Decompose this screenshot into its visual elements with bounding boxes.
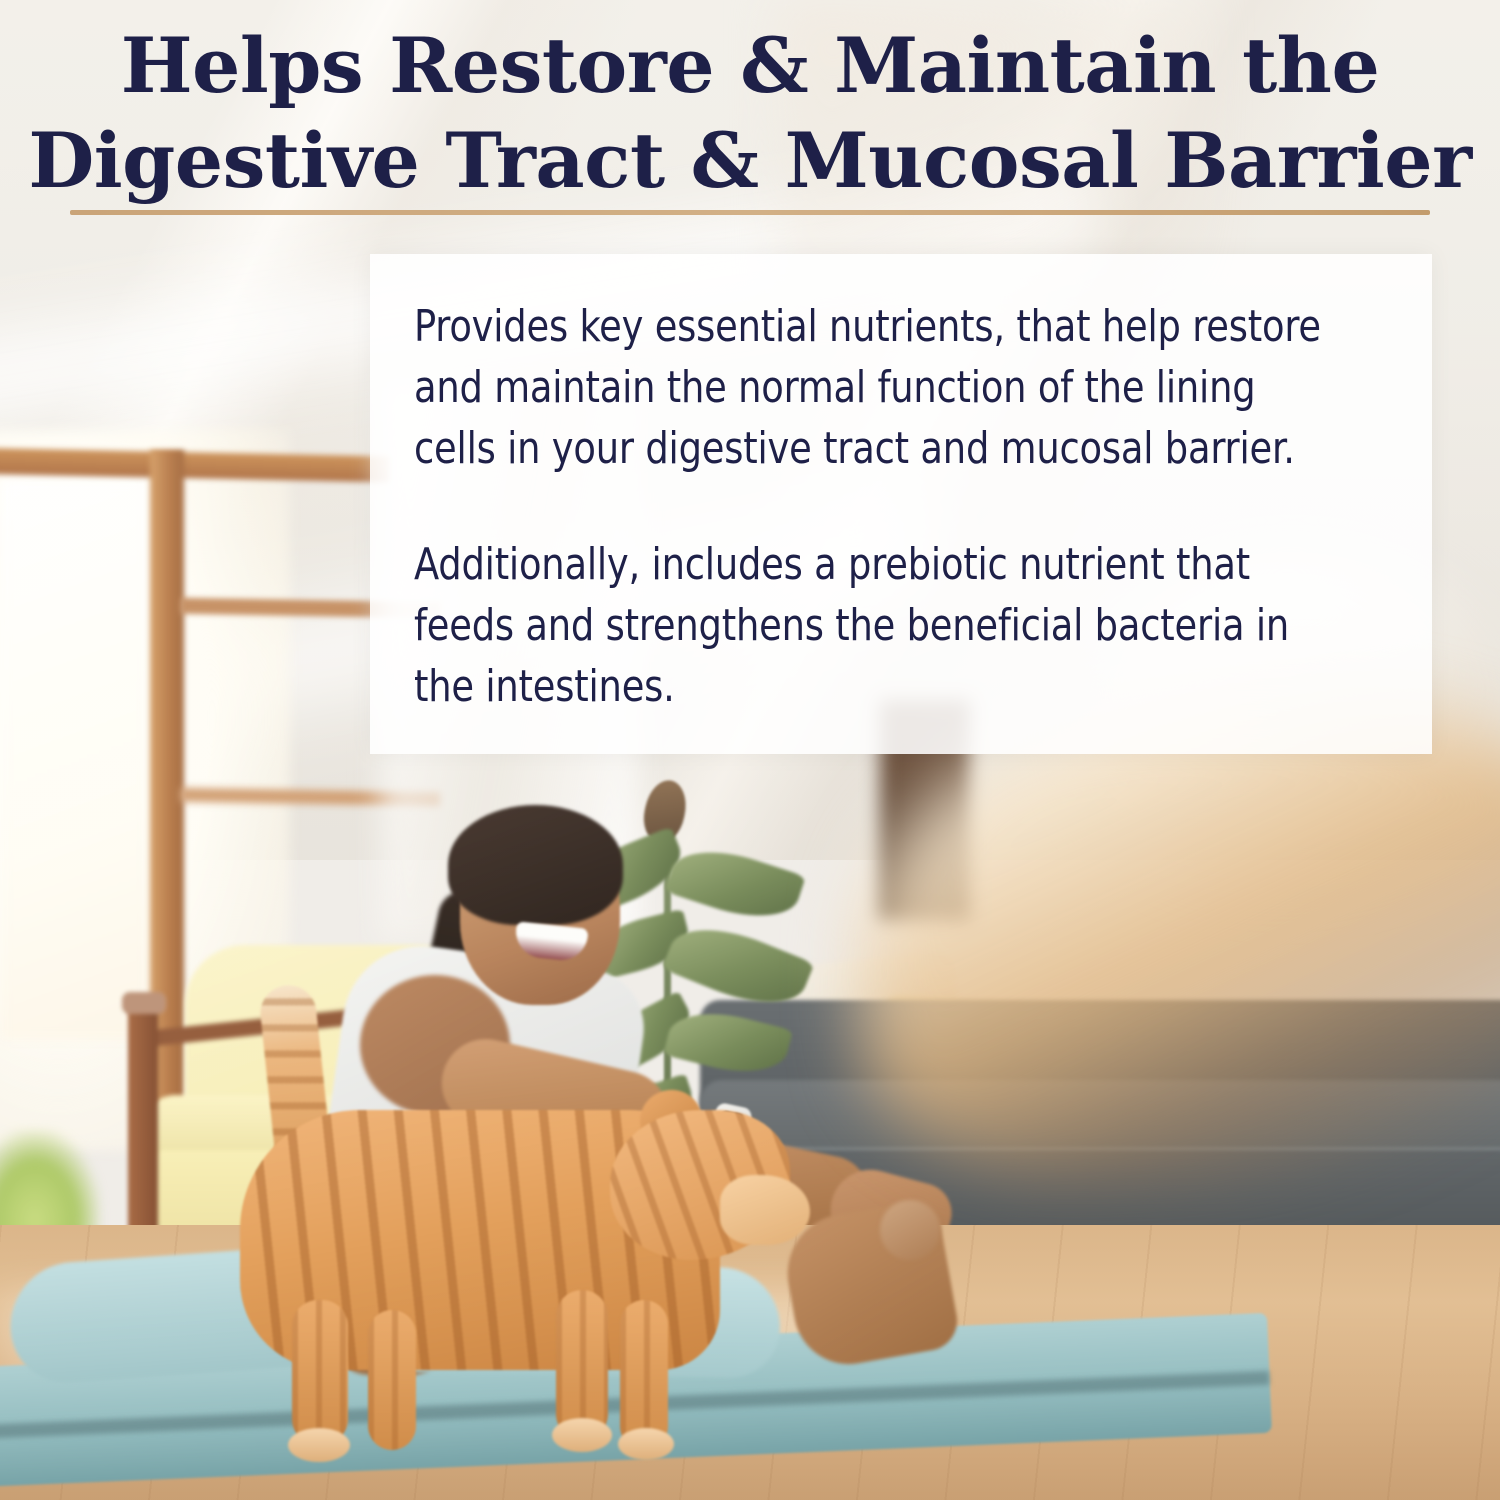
window-pane bbox=[0, 480, 150, 1040]
cat-paw bbox=[288, 1428, 350, 1462]
description-panel-inner: Provides key essential nutrients, that h… bbox=[414, 296, 1394, 717]
description-panel: Provides key essential nutrients, that h… bbox=[370, 254, 1432, 754]
description-paragraph-1: Provides key essential nutrients, that h… bbox=[414, 296, 1325, 479]
description-paragraph-2: Additionally, includes a prebiotic nutri… bbox=[414, 534, 1325, 717]
cat-paw bbox=[552, 1418, 612, 1452]
woman-hair bbox=[448, 805, 623, 925]
cat-hind-leg bbox=[368, 1310, 416, 1450]
woman-toes bbox=[880, 1200, 940, 1260]
cat-paw bbox=[618, 1428, 674, 1460]
armchair-post-cap bbox=[122, 992, 166, 1014]
infographic-canvas: Helps Restore & Maintain the Digestive T… bbox=[0, 0, 1500, 1500]
cat-muzzle bbox=[720, 1175, 810, 1245]
title-divider-rule bbox=[70, 210, 1430, 215]
cat-hind-leg bbox=[292, 1300, 348, 1445]
page-title: Helps Restore & Maintain the Digestive T… bbox=[0, 18, 1500, 208]
